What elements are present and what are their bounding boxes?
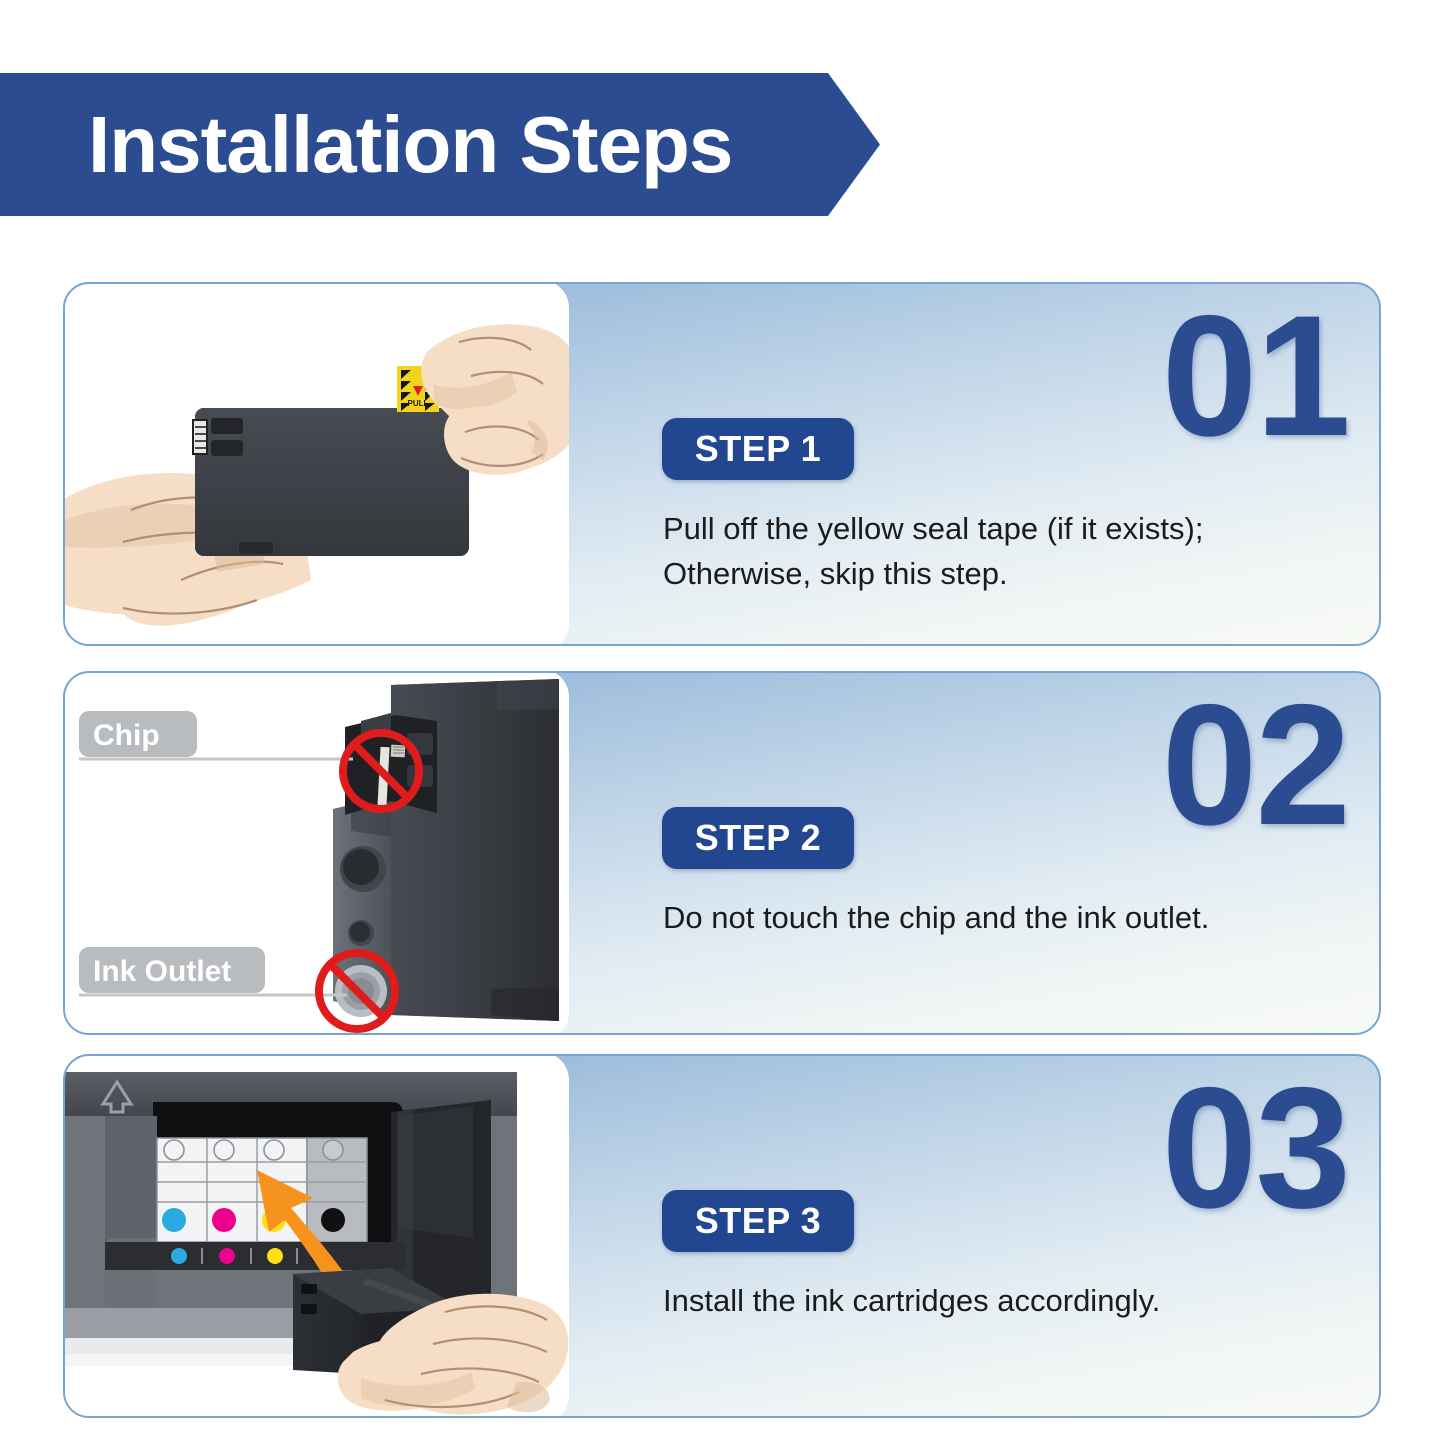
page-header-banner: Installation Steps [0,73,880,216]
chip-contacts [193,420,207,454]
chip-callout-label: Chip [93,719,160,752]
step-2-description: Do not touch the chip and the ink outlet… [663,895,1363,940]
step-1-illustration: PULL [63,282,569,646]
chip-callout: Chip [79,711,353,759]
step-2-description-line-1: Do not touch the chip and the ink outlet… [663,895,1363,940]
step-2-image-panel: Chip Ink Outlet [63,671,569,1035]
step-3-illustration [63,1054,569,1418]
step-2-badge-label: STEP 2 [695,817,821,859]
step-1-badge: STEP 1 [662,418,854,480]
step-1-description-line-1: Pull off the yellow seal tape (if it exi… [663,506,1363,551]
ink-cartridge-body [193,408,469,556]
step-2-number: 02 [1162,679,1349,851]
ink-outlet-callout-label: Ink Outlet [93,955,231,988]
page-title: Installation Steps [88,105,732,185]
step-2-badge: STEP 2 [662,807,854,869]
step-3-description: Install the ink cartridges accordingly. [663,1278,1363,1323]
cartridge-callouts-illustration: Chip Ink Outlet [63,671,569,1035]
step-2-illustration: Chip Ink Outlet [63,671,569,1035]
cartridge-front-face [333,795,391,1017]
slot-dot-black [321,1208,345,1232]
step-3-badge-label: STEP 3 [695,1200,821,1242]
step-3-description-line-1: Install the ink cartridges accordingly. [663,1278,1363,1323]
step-3-number: 03 [1162,1062,1349,1234]
printer-carriage-illustration [63,1054,569,1418]
step-card-2: Chip Ink Outlet [63,671,1381,1035]
step-1-image-panel: PULL [63,282,569,646]
step-card-3: 03 STEP 3 Install the ink cartridges acc… [63,1054,1381,1418]
slot-dot-magenta [212,1208,236,1232]
hands-pulling-seal-tape-illustration: PULL [63,282,569,646]
step-1-number: 01 [1162,290,1349,462]
step-3-badge: STEP 3 [662,1190,854,1252]
step-1-description-line-2: Otherwise, skip this step. [663,551,1363,596]
step-card-1: PULL 01 STEP 1 [63,282,1381,646]
step-3-image-panel [63,1054,569,1418]
ink-outlet-callout: Ink Outlet [79,947,347,995]
step-1-description: Pull off the yellow seal tape (if it exi… [663,506,1363,597]
pull-label: PULL [408,399,429,408]
step-1-badge-label: STEP 1 [695,428,821,470]
slot-dot-cyan [162,1208,186,1232]
